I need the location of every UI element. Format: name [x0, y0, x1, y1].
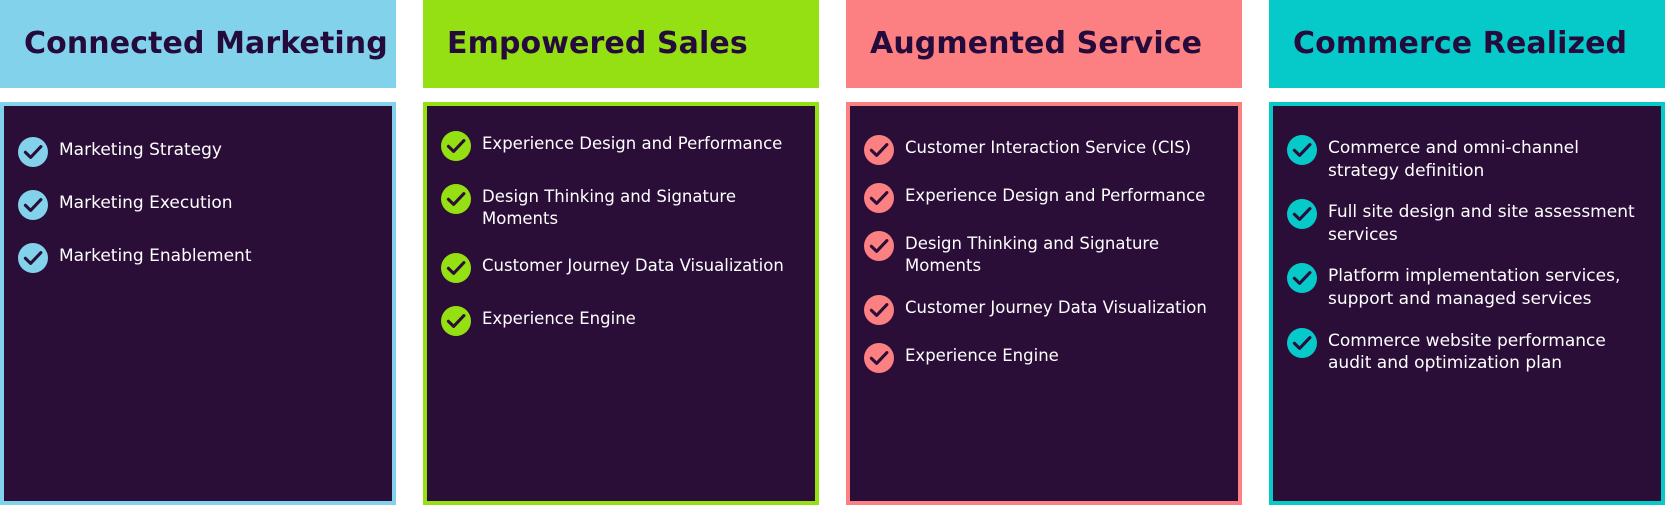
capability-column: Commerce RealizedCommerce and omni-chann…: [1269, 0, 1665, 505]
list-item-label: Marketing Execution: [59, 189, 233, 215]
list-item: Customer Journey Data Visualization: [441, 252, 801, 283]
list-item-label: Full site design and site assessment ser…: [1328, 198, 1647, 246]
list-item: Experience Design and Performance: [864, 182, 1224, 213]
capability-list: Customer Interaction Service (CIS)Experi…: [864, 134, 1224, 373]
capability-column: Empowered SalesExperience Design and Per…: [423, 0, 819, 505]
check-circle-icon: [1287, 199, 1317, 229]
column-title: Commerce Realized: [1293, 28, 1627, 60]
capability-list: Commerce and omni-channel strategy defin…: [1287, 134, 1647, 375]
check-circle-icon: [18, 137, 48, 167]
capability-columns-board: Connected MarketingMarketing StrategyMar…: [0, 0, 1665, 505]
capability-column: Augmented ServiceCustomer Interaction Se…: [846, 0, 1242, 505]
list-item-label: Marketing Enablement: [59, 242, 252, 268]
list-item: Platform implementation services, suppor…: [1287, 262, 1647, 310]
list-item: Full site design and site assessment ser…: [1287, 198, 1647, 246]
list-item: Customer Interaction Service (CIS): [864, 134, 1224, 165]
check-circle-icon: [441, 131, 471, 161]
list-item-label: Customer Interaction Service (CIS): [905, 134, 1191, 159]
column-card: Commerce and omni-channel strategy defin…: [1269, 102, 1665, 505]
list-item-label: Design Thinking and Signature Moments: [905, 230, 1224, 277]
list-item-label: Experience Design and Performance: [905, 182, 1205, 207]
list-item: Marketing Execution: [18, 189, 378, 220]
check-circle-icon: [1287, 328, 1317, 358]
list-item-label: Customer Journey Data Visualization: [482, 252, 784, 277]
header-card-divider: [423, 88, 819, 102]
check-circle-icon: [1287, 135, 1317, 165]
list-item: Customer Journey Data Visualization: [864, 294, 1224, 325]
list-item: Design Thinking and Signature Moments: [441, 183, 801, 230]
column-card: Experience Design and PerformanceDesign …: [423, 102, 819, 505]
list-item-label: Experience Engine: [905, 342, 1059, 367]
list-item: Design Thinking and Signature Moments: [864, 230, 1224, 277]
check-circle-icon: [1287, 263, 1317, 293]
column-title: Augmented Service: [870, 28, 1202, 60]
capability-column: Connected MarketingMarketing StrategyMar…: [0, 0, 396, 505]
column-header: Commerce Realized: [1269, 0, 1665, 88]
list-item-label: Experience Design and Performance: [482, 130, 782, 155]
check-circle-icon: [441, 184, 471, 214]
header-card-divider: [846, 88, 1242, 102]
list-item: Commerce and omni-channel strategy defin…: [1287, 134, 1647, 182]
check-circle-icon: [864, 231, 894, 261]
column-card: Customer Interaction Service (CIS)Experi…: [846, 102, 1242, 505]
column-header: Empowered Sales: [423, 0, 819, 88]
check-circle-icon: [864, 135, 894, 165]
list-item: Experience Engine: [864, 342, 1224, 373]
header-card-divider: [1269, 88, 1665, 102]
capability-list: Experience Design and PerformanceDesign …: [441, 130, 801, 336]
list-item: Marketing Enablement: [18, 242, 378, 273]
column-title: Empowered Sales: [447, 28, 748, 60]
list-item-label: Platform implementation services, suppor…: [1328, 262, 1647, 310]
column-header: Connected Marketing: [0, 0, 396, 88]
check-circle-icon: [441, 253, 471, 283]
check-circle-icon: [864, 343, 894, 373]
capability-list: Marketing StrategyMarketing ExecutionMar…: [18, 136, 378, 273]
header-card-divider: [0, 88, 396, 102]
check-circle-icon: [18, 243, 48, 273]
list-item-label: Marketing Strategy: [59, 136, 222, 162]
column-header: Augmented Service: [846, 0, 1242, 88]
check-circle-icon: [441, 306, 471, 336]
list-item-label: Customer Journey Data Visualization: [905, 294, 1207, 319]
list-item-label: Commerce and omni-channel strategy defin…: [1328, 134, 1647, 182]
check-circle-icon: [864, 183, 894, 213]
list-item: Experience Design and Performance: [441, 130, 801, 161]
list-item-label: Design Thinking and Signature Moments: [482, 183, 801, 230]
list-item: Marketing Strategy: [18, 136, 378, 167]
list-item-label: Experience Engine: [482, 305, 636, 330]
check-circle-icon: [18, 190, 48, 220]
list-item: Experience Engine: [441, 305, 801, 336]
list-item: Commerce website performance audit and o…: [1287, 327, 1647, 375]
list-item-label: Commerce website performance audit and o…: [1328, 327, 1647, 375]
column-card: Marketing StrategyMarketing ExecutionMar…: [0, 102, 396, 505]
column-title: Connected Marketing: [24, 28, 388, 60]
check-circle-icon: [864, 295, 894, 325]
